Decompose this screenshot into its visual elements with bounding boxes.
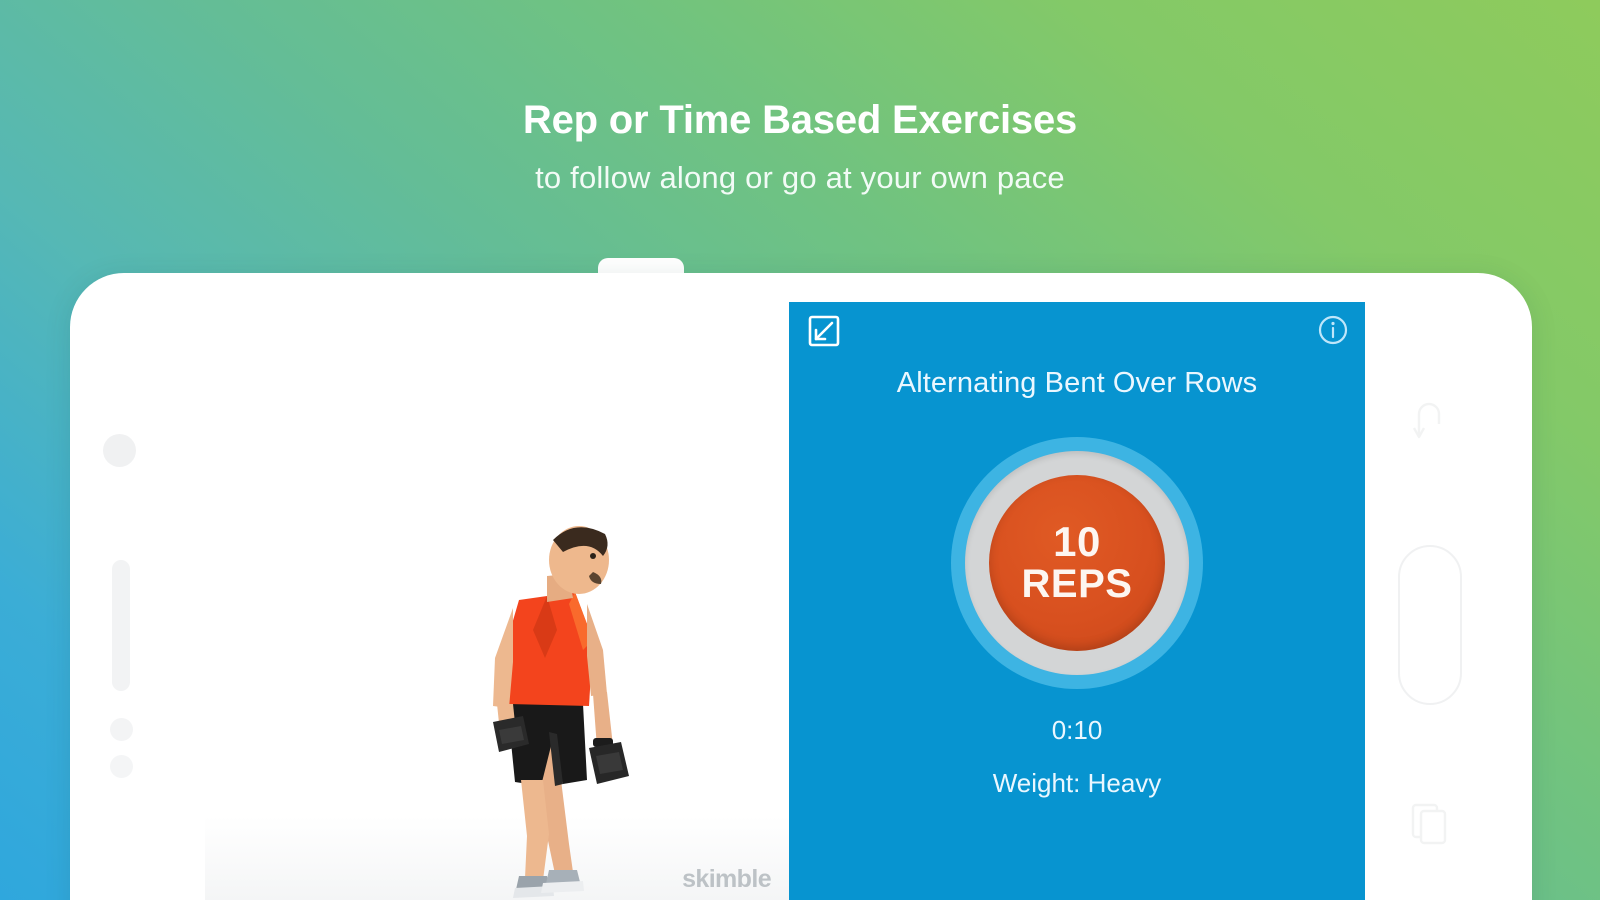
camera-dot (103, 434, 136, 467)
rep-counter-dial[interactable]: 10 REPS (951, 437, 1203, 689)
exercise-duration: 0:10 (1052, 715, 1103, 746)
back-arrow-icon[interactable] (1409, 398, 1449, 444)
exercise-weight: Weight: Heavy (993, 768, 1162, 799)
rep-count-value: 10 (1053, 521, 1101, 563)
promo-subheadline: to follow along or go at your own pace (0, 159, 1600, 196)
recent-apps-icon[interactable] (1409, 800, 1449, 846)
headline-block: Rep or Time Based Exercises to follow al… (0, 96, 1600, 196)
expand-fullscreen-icon[interactable] (807, 314, 841, 348)
speaker-bar (112, 560, 130, 691)
exercise-demo-image (397, 480, 697, 900)
exercise-title: Alternating Bent Over Rows (881, 366, 1273, 401)
exercise-photo-pane: skimble (205, 302, 789, 900)
skimble-watermark: skimble (682, 865, 771, 894)
dial-orange-core: 10 REPS (989, 475, 1165, 651)
promo-headline: Rep or Time Based Exercises (0, 96, 1600, 144)
exercise-control-pane: Alternating Bent Over Rows 10 REPS 0:10 … (789, 302, 1365, 900)
rep-count-unit: REPS (1022, 563, 1133, 605)
promo-screenshot: Rep or Time Based Exercises to follow al… (0, 0, 1600, 900)
info-circle-icon[interactable] (1317, 314, 1349, 346)
app-screen: skimble Alternating Bent Over Rows (205, 302, 1365, 900)
sensor-dot (110, 718, 133, 741)
sensor-dot (110, 755, 133, 778)
home-button[interactable] (1398, 545, 1462, 705)
